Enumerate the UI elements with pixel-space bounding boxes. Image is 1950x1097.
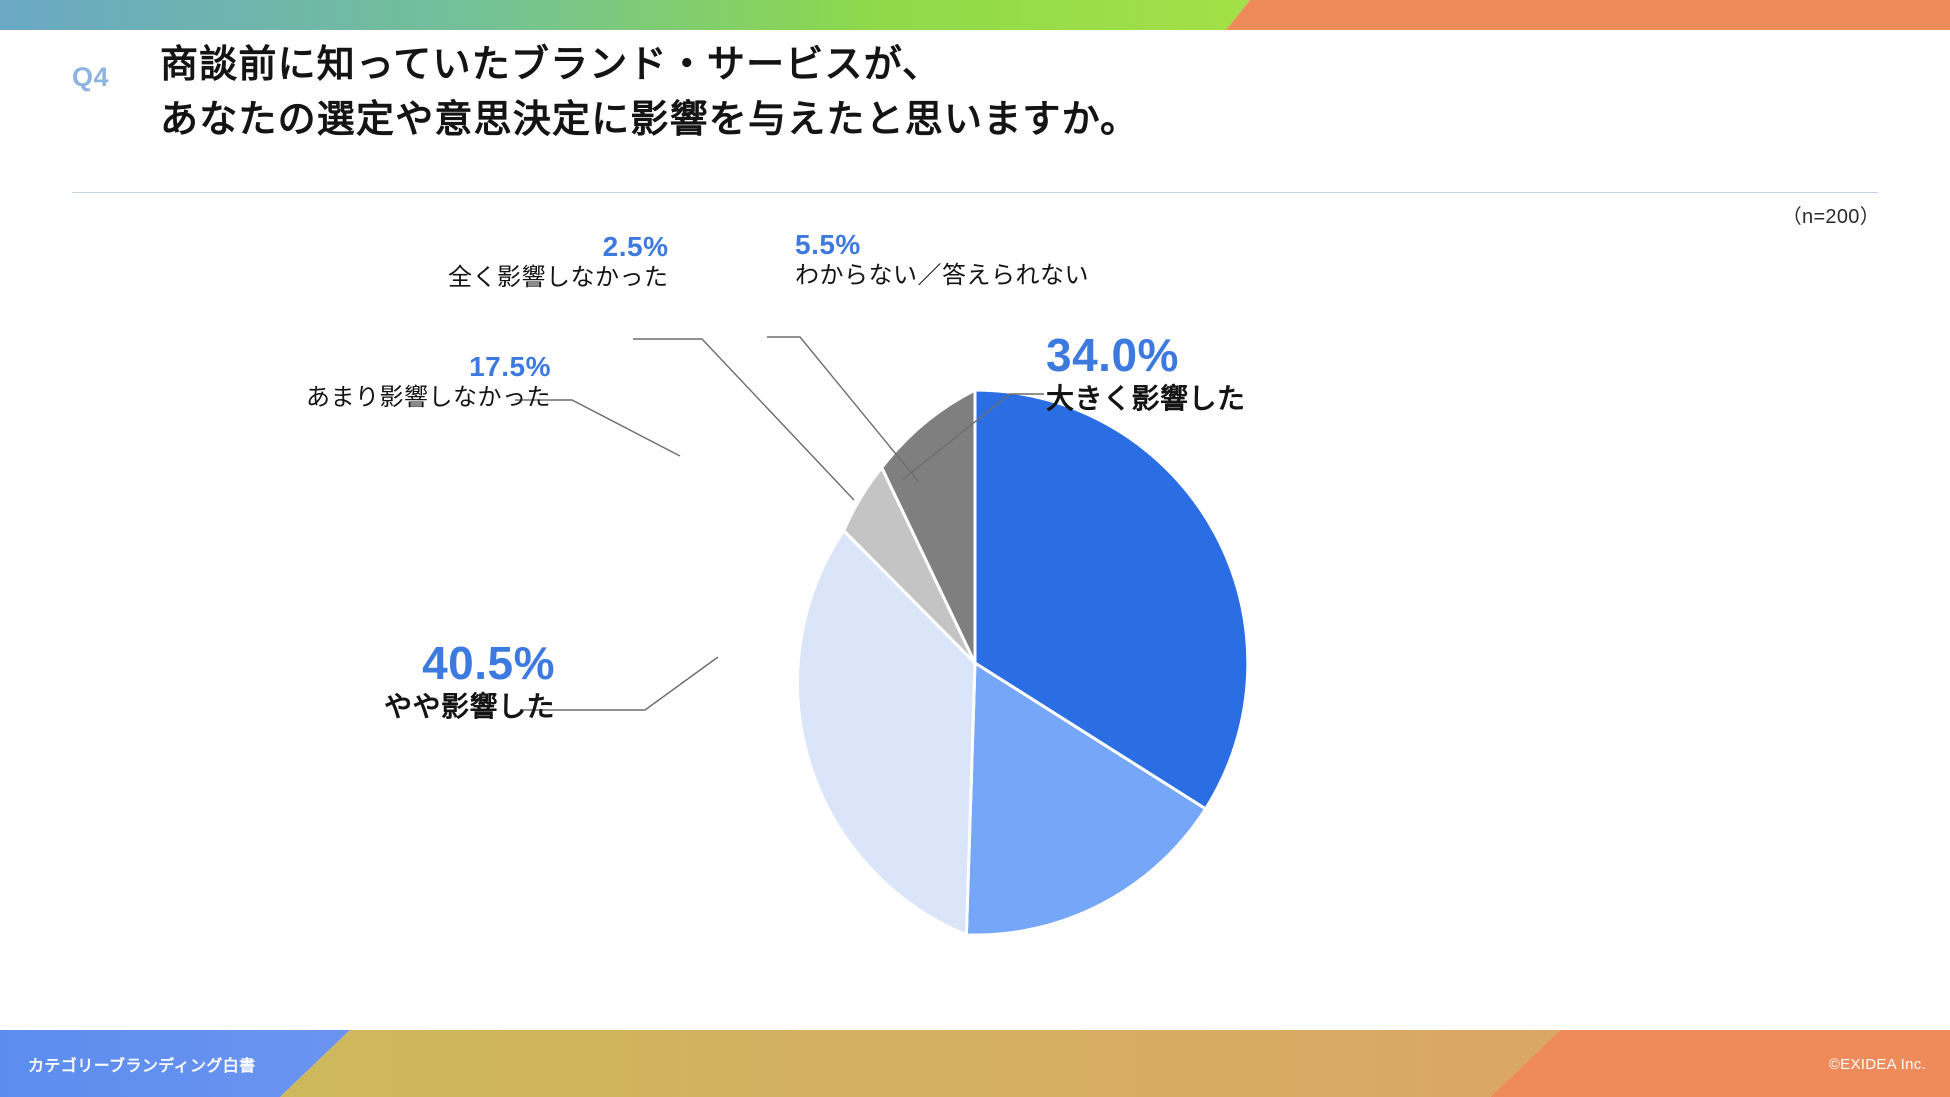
callout-unknown-label: わからない／答えられない — [795, 261, 1089, 291]
footer-left-label: カテゴリーブランディング白書 — [28, 1052, 256, 1076]
pie-chart — [0, 0, 1950, 1030]
callout-none-percent: 2.5% — [448, 232, 669, 263]
callout-little: 17.5% あまり影響しなかった — [306, 352, 551, 413]
footer-bar: カテゴリーブランディング白書 ©EXIDEA Inc. — [0, 1030, 1950, 1097]
callout-some-percent: 40.5% — [384, 638, 555, 689]
callout-little-percent: 17.5% — [306, 352, 551, 383]
callout-none-label: 全く影響しなかった — [448, 263, 669, 293]
footer-copyright: ©EXIDEA Inc. — [1829, 1056, 1926, 1073]
callout-none: 2.5% 全く影響しなかった — [448, 232, 669, 293]
callout-little-label: あまり影響しなかった — [306, 383, 551, 413]
callout-some: 40.5% やや影響した — [384, 638, 555, 724]
callout-strong-label: 大きく影響した — [1046, 381, 1246, 416]
callout-strong-percent: 34.0% — [1046, 330, 1246, 381]
callout-unknown-percent: 5.5% — [795, 230, 1089, 261]
callout-some-label: やや影響した — [384, 689, 555, 724]
callout-unknown: 5.5% わからない／答えられない — [795, 230, 1089, 291]
pie-slices — [798, 390, 1248, 935]
callout-strong: 34.0% 大きく影響した — [1046, 330, 1246, 416]
